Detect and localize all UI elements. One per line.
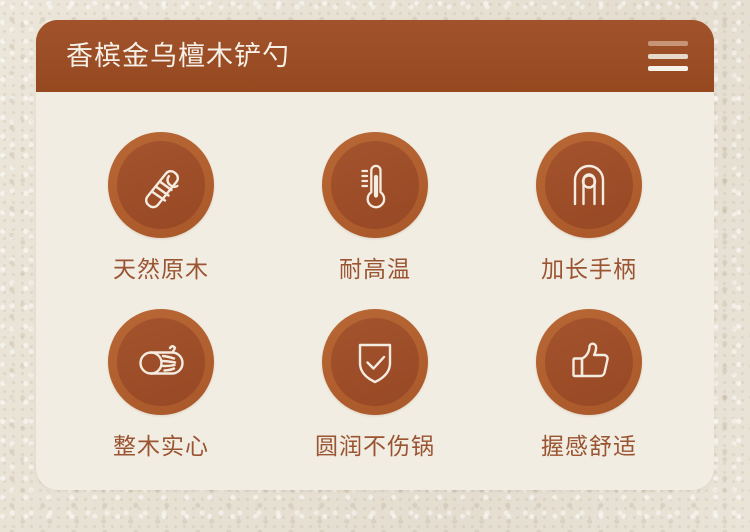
feature-label: 天然原木 <box>113 258 209 281</box>
menu-bar-top <box>648 41 688 46</box>
feature-item-heat-resistant[interactable]: 耐高温 <box>275 132 475 281</box>
solid-wood-log-icon <box>117 318 205 406</box>
thermometer-icon <box>331 141 419 229</box>
icon-circle <box>536 132 642 238</box>
feature-row: 整木实心 圆润不伤锅 <box>54 309 696 458</box>
feature-item-natural-wood[interactable]: 天然原木 <box>61 132 261 281</box>
icon-circle <box>322 132 428 238</box>
page-title: 香槟金乌檀木铲勺 <box>66 43 290 70</box>
product-feature-card: 香槟金乌檀木铲勺 <box>36 20 714 490</box>
feature-label: 圆润不伤锅 <box>315 435 435 458</box>
menu-bar-middle <box>648 54 688 59</box>
menu-bar-bottom <box>648 66 688 71</box>
feature-label: 耐高温 <box>339 258 411 281</box>
long-handle-arch-icon <box>545 141 633 229</box>
wood-log-diagonal-icon <box>117 141 205 229</box>
icon-circle <box>108 132 214 238</box>
feature-label: 整木实心 <box>113 435 209 458</box>
card-header: 香槟金乌檀木铲勺 <box>36 20 714 92</box>
hamburger-menu-icon[interactable] <box>648 41 688 71</box>
feature-item-long-handle[interactable]: 加长手柄 <box>489 132 689 281</box>
feature-item-gentle-on-cookware[interactable]: 圆润不伤锅 <box>275 309 475 458</box>
feature-label: 加长手柄 <box>541 258 637 281</box>
icon-circle <box>536 309 642 415</box>
feature-item-solid-wood[interactable]: 整木实心 <box>61 309 261 458</box>
icon-circle <box>322 309 428 415</box>
shield-check-icon <box>331 318 419 406</box>
feature-grid: 天然原木 耐高温 <box>36 92 714 490</box>
icon-circle <box>108 309 214 415</box>
thumbs-up-icon <box>545 318 633 406</box>
feature-row: 天然原木 耐高温 <box>54 132 696 281</box>
feature-label: 握感舒适 <box>541 435 637 458</box>
feature-item-comfortable-grip[interactable]: 握感舒适 <box>489 309 689 458</box>
